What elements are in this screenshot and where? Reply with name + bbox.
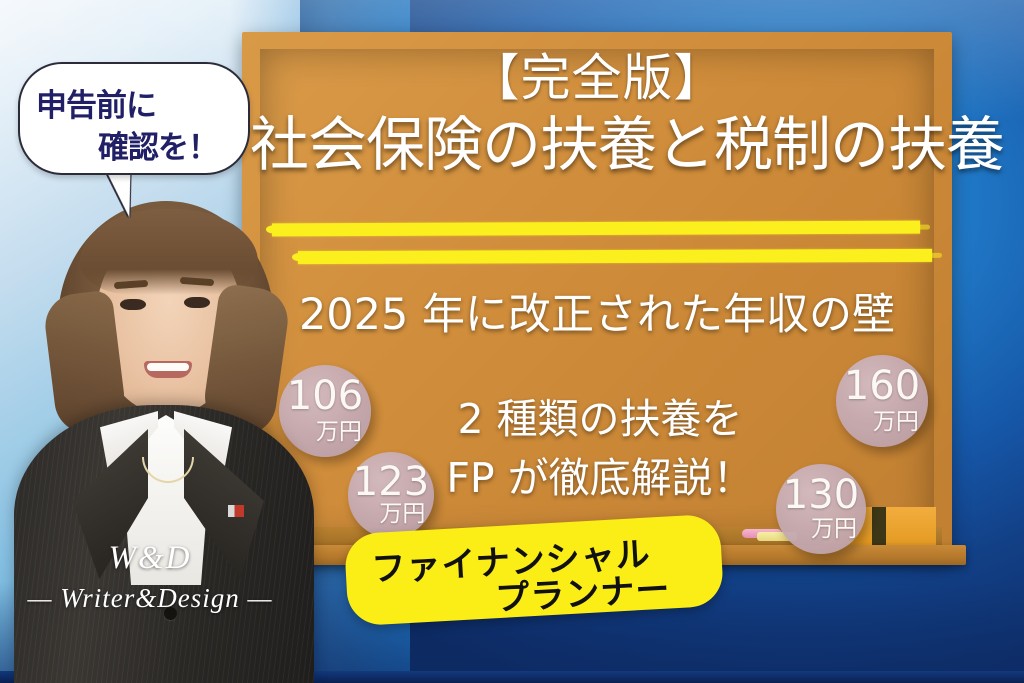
heading-bracketed: 【完全版】 <box>242 52 952 105</box>
amount-unit: 万円 <box>873 411 919 434</box>
amount-unit: 万円 <box>379 503 425 526</box>
tray-dark-block <box>872 507 886 547</box>
amount-unit: 万円 <box>811 518 857 541</box>
amount-circle-160: 160 万円 <box>836 355 928 447</box>
eye-right <box>184 297 210 308</box>
eye-left <box>120 299 146 310</box>
amount-value: 130 <box>776 475 866 515</box>
subtitle-fp-line1: 2 種類の扶養を <box>300 390 900 449</box>
poster-canvas: 【完全版】 社会保険の扶養と税制の扶養 2025 年に改正された年収の壁 2 種… <box>0 0 1024 683</box>
tray-orange-block-right <box>886 507 936 547</box>
amount-value: 123 <box>348 462 434 502</box>
fp-badge-line2: プランナー <box>494 561 671 620</box>
hair-bangs <box>80 209 258 295</box>
page-title: 社会保険の扶養と税制の扶養 <box>250 112 950 178</box>
amount-unit: 万円 <box>316 421 362 444</box>
chalk-underline-bottom <box>298 249 932 264</box>
lapel-pin <box>228 505 244 517</box>
speech-bubble-line2: 確認を！ <box>98 122 218 167</box>
subtitle-year-wall: 2025 年に改正された年収の壁 <box>242 290 952 342</box>
amount-circle-123: 123 万円 <box>348 452 434 538</box>
amount-circle-130: 130 万円 <box>776 464 866 554</box>
fp-badge: ファイナンシャル プランナー <box>344 514 725 627</box>
presenter-portrait <box>14 175 314 683</box>
amount-value: 160 <box>836 366 928 406</box>
speech-bubble: 申告前に 確認を！ <box>18 62 250 175</box>
mouth <box>144 361 192 378</box>
speech-bubble-line1: 申告前に <box>36 80 156 125</box>
suit-button <box>164 607 177 620</box>
